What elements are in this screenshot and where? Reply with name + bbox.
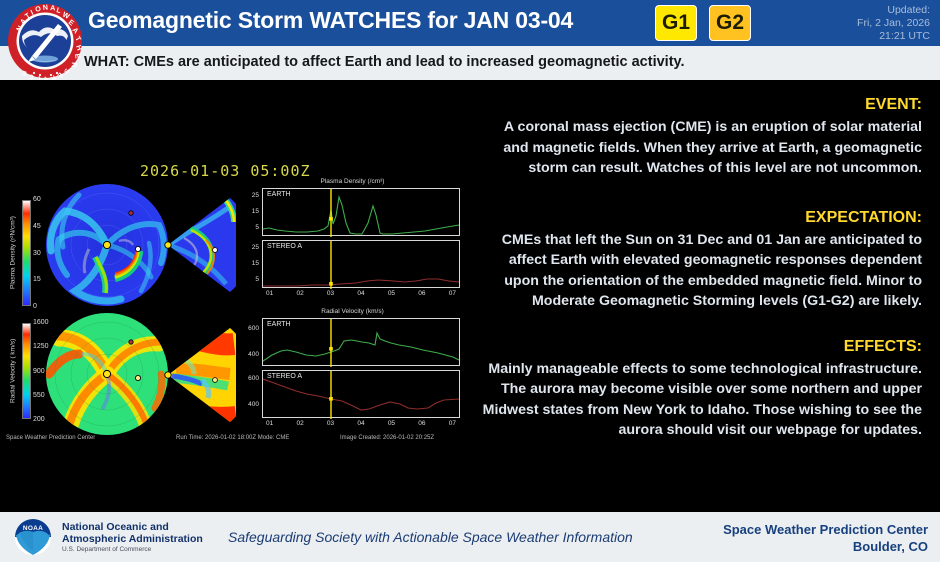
tick: 25: [240, 244, 259, 251]
timeseries-radial-velocity: Radial Velocity (km/s) EARTH 600 400 STE…: [240, 308, 465, 436]
colorbar-density-gradient: [22, 200, 31, 306]
velocity-stereoa-yticks: 600 400: [240, 375, 259, 408]
tick: 03: [327, 290, 334, 297]
velocity-earth-label: EARTH: [267, 321, 291, 328]
swpc-name: Space Weather Prediction Center: [723, 521, 928, 538]
density-stereoa-label: STEREO A: [267, 243, 302, 250]
velocity-xticks: 01 02 03 04 05 06 07: [262, 420, 460, 427]
noaa-agency-name: National Oceanic and Atmospheric Adminis…: [62, 521, 203, 545]
updated-time: 21:21 UTC: [857, 30, 930, 43]
velocity-ecliptic-plot: [45, 312, 170, 437]
density-ecliptic-plot: [45, 183, 170, 308]
tick: 15: [240, 260, 259, 267]
tick: 30: [33, 250, 41, 257]
tick: 02: [296, 290, 303, 297]
density-earth-label: EARTH: [267, 191, 291, 198]
tick: 600: [240, 325, 259, 332]
velocity-earth-yticks: 600 400: [240, 325, 259, 358]
tick: 06: [418, 290, 425, 297]
timeseries-plasma-density: Plasma Density (/cm³) EARTH 25 15 5 STER…: [240, 178, 465, 306]
tick: 04: [357, 420, 364, 427]
colorbar-velocity-gradient: [22, 323, 31, 419]
page-header: Geomagnetic Storm WATCHES for JAN 03-04 …: [0, 0, 940, 46]
colorbar-velocity-label: Radial Velocity ( km/s): [6, 323, 20, 419]
density-earth-trace: [263, 189, 461, 237]
tick: 25: [240, 192, 259, 199]
tick: 06: [418, 420, 425, 427]
effects-body: Mainly manageable effects to some techno…: [478, 359, 922, 441]
noaa-agency-line1: National Oceanic and: [62, 521, 203, 533]
svg-text:NOAA: NOAA: [23, 525, 43, 532]
swpc-location: Boulder, CO: [723, 538, 928, 555]
tick: 07: [449, 420, 456, 427]
what-banner: WHAT: CMEs are anticipated to affect Ear…: [0, 46, 940, 80]
caption-left: Space Weather Prediction Center: [6, 435, 95, 441]
density-stereoa-yticks: 25 15 5: [240, 244, 259, 283]
tick: 15: [33, 276, 41, 283]
tick: 01: [266, 290, 273, 297]
tick: 5: [240, 276, 259, 283]
caption-image-created: Image Created: 2026-01-02 20:25Z: [340, 435, 434, 441]
tick: 0: [33, 303, 41, 310]
tick: 02: [296, 420, 303, 427]
tick: 07: [449, 290, 456, 297]
page-title: Geomagnetic Storm WATCHES for JAN 03-04: [88, 7, 573, 34]
updated-date: Fri, 2 Jan, 2026: [857, 17, 930, 30]
storm-level-badges: G1 G2: [655, 5, 751, 41]
svg-text:A: A: [50, 3, 56, 12]
expectation-heading: EXPECTATION:: [478, 209, 922, 227]
badge-g2-label: G2: [716, 11, 744, 35]
tick: 05: [388, 290, 395, 297]
noaa-logo-icon: NOAA: [14, 518, 52, 556]
caption-runtime: Run Time: 2026-01-02 18:00Z Mode: CME: [176, 435, 289, 441]
enlil-model-figure: 2026-01-03 05:00Z Plasma Density (r²N/cm…: [0, 80, 470, 512]
timeseries-density-title: Plasma Density (/cm³): [240, 178, 465, 185]
noaa-agency-line2: Atmospheric Administration: [62, 533, 203, 545]
tick: 15: [240, 208, 259, 215]
event-heading: EVENT:: [478, 96, 922, 114]
velocity-earth-panel: EARTH: [262, 318, 460, 366]
updated-timestamp: Updated: Fri, 2 Jan, 2026 21:21 UTC: [857, 4, 930, 43]
colorbar-density-label: Plasma Density (r²N/cm³): [6, 200, 20, 306]
tick: 400: [240, 401, 259, 408]
tick: 45: [33, 223, 41, 230]
velocity-earth-trace: [263, 319, 461, 367]
density-meridional-plot: [160, 188, 236, 303]
tick: 03: [327, 420, 334, 427]
badge-g1-label: G1: [662, 11, 690, 35]
footer-center-name: Space Weather Prediction Center Boulder,…: [723, 521, 928, 555]
colorbar-density-ticks: 60 45 30 15 0: [33, 196, 41, 310]
tick: 05: [388, 420, 395, 427]
alert-details-panel: EVENT: A coronal mass ejection (CME) is …: [470, 80, 940, 512]
velocity-stereoa-panel: STEREO A: [262, 370, 460, 418]
updated-label: Updated:: [857, 4, 930, 17]
page-footer: NOAA National Oceanic and Atmospheric Ad…: [0, 512, 940, 562]
what-banner-text: WHAT: CMEs are anticipated to affect Ear…: [84, 54, 685, 70]
svg-text:R: R: [69, 62, 79, 69]
noaa-department: U.S. Department of Commerce: [62, 546, 151, 553]
event-body: A coronal mass ejection (CME) is an erup…: [478, 117, 922, 179]
tick: 60: [33, 196, 41, 203]
tick: 5: [240, 224, 259, 231]
nws-logo-icon: N A T I O N A L W E A T H E R S E R V I …: [6, 2, 84, 80]
svg-text:N: N: [42, 2, 48, 11]
badge-g1[interactable]: G1: [655, 5, 697, 41]
content-stage: 2026-01-03 05:00Z Plasma Density (r²N/cm…: [0, 80, 940, 512]
timeseries-velocity-title: Radial Velocity (km/s): [240, 308, 465, 315]
expectation-body: CMEs that left the Sun on 31 Dec and 01 …: [478, 230, 922, 312]
density-earth-yticks: 25 15 5: [240, 192, 259, 231]
svg-text:E: E: [73, 53, 83, 59]
tick: 04: [357, 290, 364, 297]
tick: 400: [240, 351, 259, 358]
density-earth-panel: EARTH: [262, 188, 460, 236]
density-xticks: 01 02 03 04 05 06 07: [262, 290, 460, 297]
footer-tagline: Safeguarding Society with Actionable Spa…: [228, 529, 633, 545]
tick: 01: [266, 420, 273, 427]
density-stereoa-panel: STEREO A: [262, 240, 460, 288]
badge-g2[interactable]: G2: [709, 5, 751, 41]
effects-heading: EFFECTS:: [478, 338, 922, 356]
velocity-meridional-plot: [160, 318, 236, 433]
tick: 600: [240, 375, 259, 382]
velocity-stereoa-label: STEREO A: [267, 373, 302, 380]
